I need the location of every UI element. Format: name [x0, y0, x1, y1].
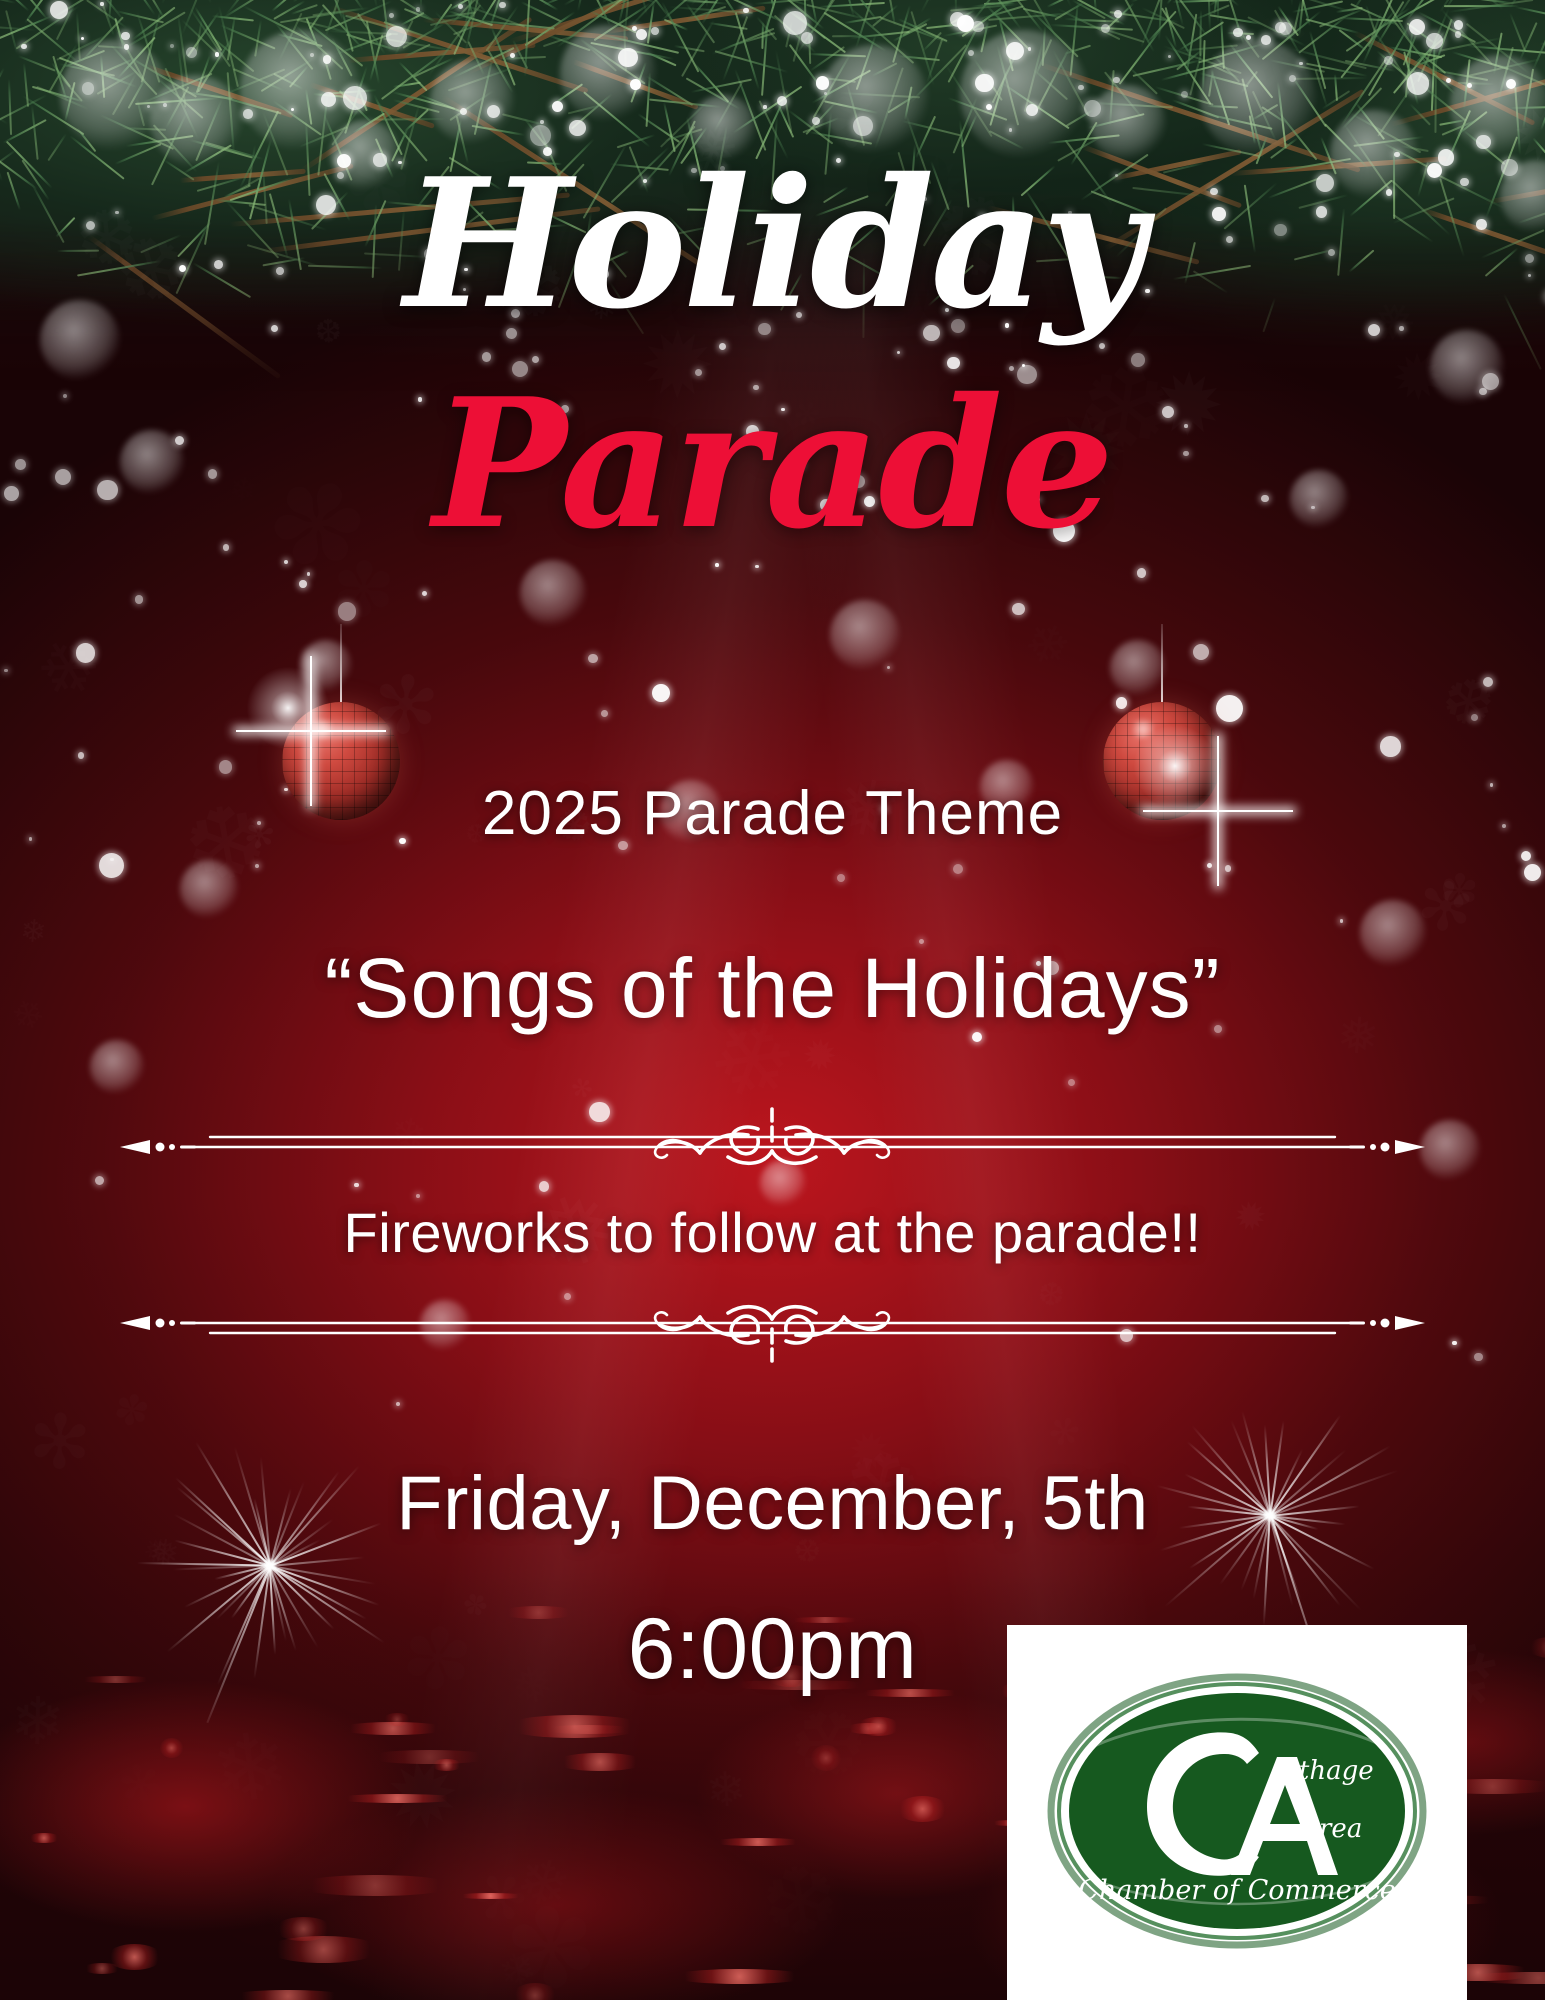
flyer-title-holiday: Holiday — [0, 155, 1545, 333]
divider-flourish-icon — [0, 1095, 1545, 1185]
logo-word-carthage: arthage — [1271, 1756, 1374, 1786]
logo-word-area: rea — [1319, 1814, 1362, 1844]
chamber-logo-oval: arthage rea Chamber of Commerce — [1035, 1661, 1439, 1961]
holiday-parade-flyer: ❄❄✽❆✻✻❆❄❆❄❅✹❆❄✹✹✹✽❅✻❅❅✽✹❄❄❄❆✹✽❄✻✽✹✹❄❄❄✻❅… — [0, 0, 1545, 2000]
divider-left-cap — [120, 1140, 196, 1154]
chamber-logo-icon: arthage rea Chamber of Commerce — [1035, 1661, 1439, 1961]
logo-tagline: Chamber of Commerce — [1078, 1875, 1395, 1906]
fireworks-note: Fireworks to follow at the parade!! — [0, 1200, 1545, 1265]
ornamental-divider-top — [0, 1095, 1545, 1185]
ornamental-divider-bottom — [0, 1285, 1545, 1375]
flyer-title-parade: Parade — [0, 375, 1545, 553]
divider-flourish-mirrored-icon — [0, 1285, 1545, 1375]
chamber-logo-panel: arthage rea Chamber of Commerce — [1007, 1625, 1467, 2000]
parade-theme-label: 2025 Parade Theme — [0, 778, 1545, 849]
parade-date: Friday, December, 5th — [0, 1460, 1545, 1547]
parade-theme-title: “Songs of the Holidays” — [0, 940, 1545, 1037]
divider-right-cap — [1349, 1140, 1425, 1154]
